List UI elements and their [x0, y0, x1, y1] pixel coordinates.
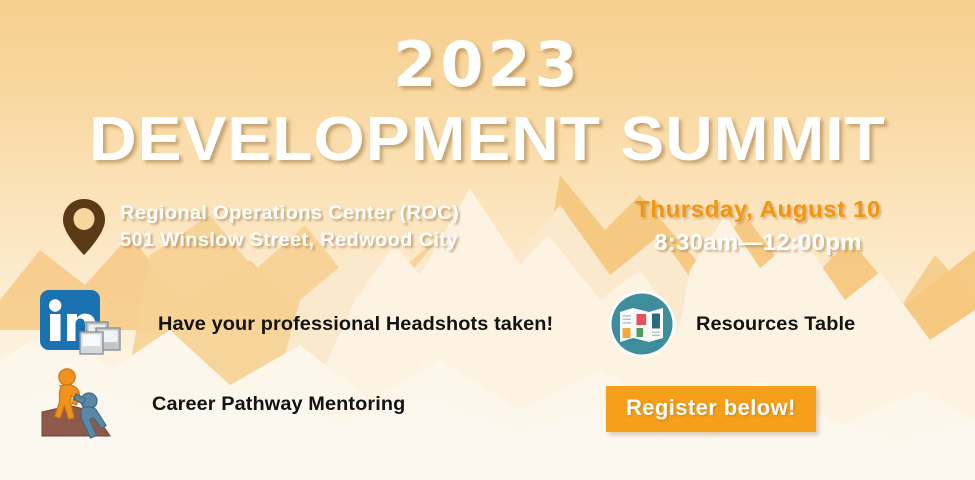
feature-label-resources: Resources Table: [696, 313, 855, 336]
mentoring-icon: [34, 366, 124, 442]
location-line-2: 501 Winslow Street, Redwood City: [120, 227, 459, 254]
feature-row-headshots: Have your professional Headshots taken!: [34, 288, 546, 360]
datetime-row: Thursday, August 10 8:30am—12:00pm: [608, 196, 908, 256]
map-pin-icon: [56, 198, 112, 256]
page-title: DEVELOPMENT SUMMIT: [0, 104, 975, 175]
linkedin-headshot-icon: [34, 288, 130, 360]
register-button[interactable]: Register below!: [606, 386, 816, 432]
brochure-icon: [606, 288, 678, 360]
feature-label-mentoring: Career Pathway Mentoring: [152, 393, 405, 416]
page-title-year: 2023: [0, 28, 975, 101]
feature-label-headshots: Have your professional Headshots taken!: [158, 313, 553, 336]
register-row: Register below!: [606, 386, 816, 432]
event-time: 8:30am—12:00pm: [602, 229, 914, 256]
location-line-1: Regional Operations Center (ROC): [120, 200, 459, 227]
location-row: Regional Operations Center (ROC) 501 Win…: [56, 198, 449, 256]
event-banner: 2023 DEVELOPMENT SUMMIT Regional Operati…: [0, 0, 975, 480]
event-date: Thursday, August 10: [602, 196, 914, 223]
location-text: Regional Operations Center (ROC) 501 Win…: [120, 200, 459, 254]
feature-row-resources: Resources Table: [606, 288, 852, 360]
feature-row-mentoring: Career Pathway Mentoring: [34, 366, 400, 442]
